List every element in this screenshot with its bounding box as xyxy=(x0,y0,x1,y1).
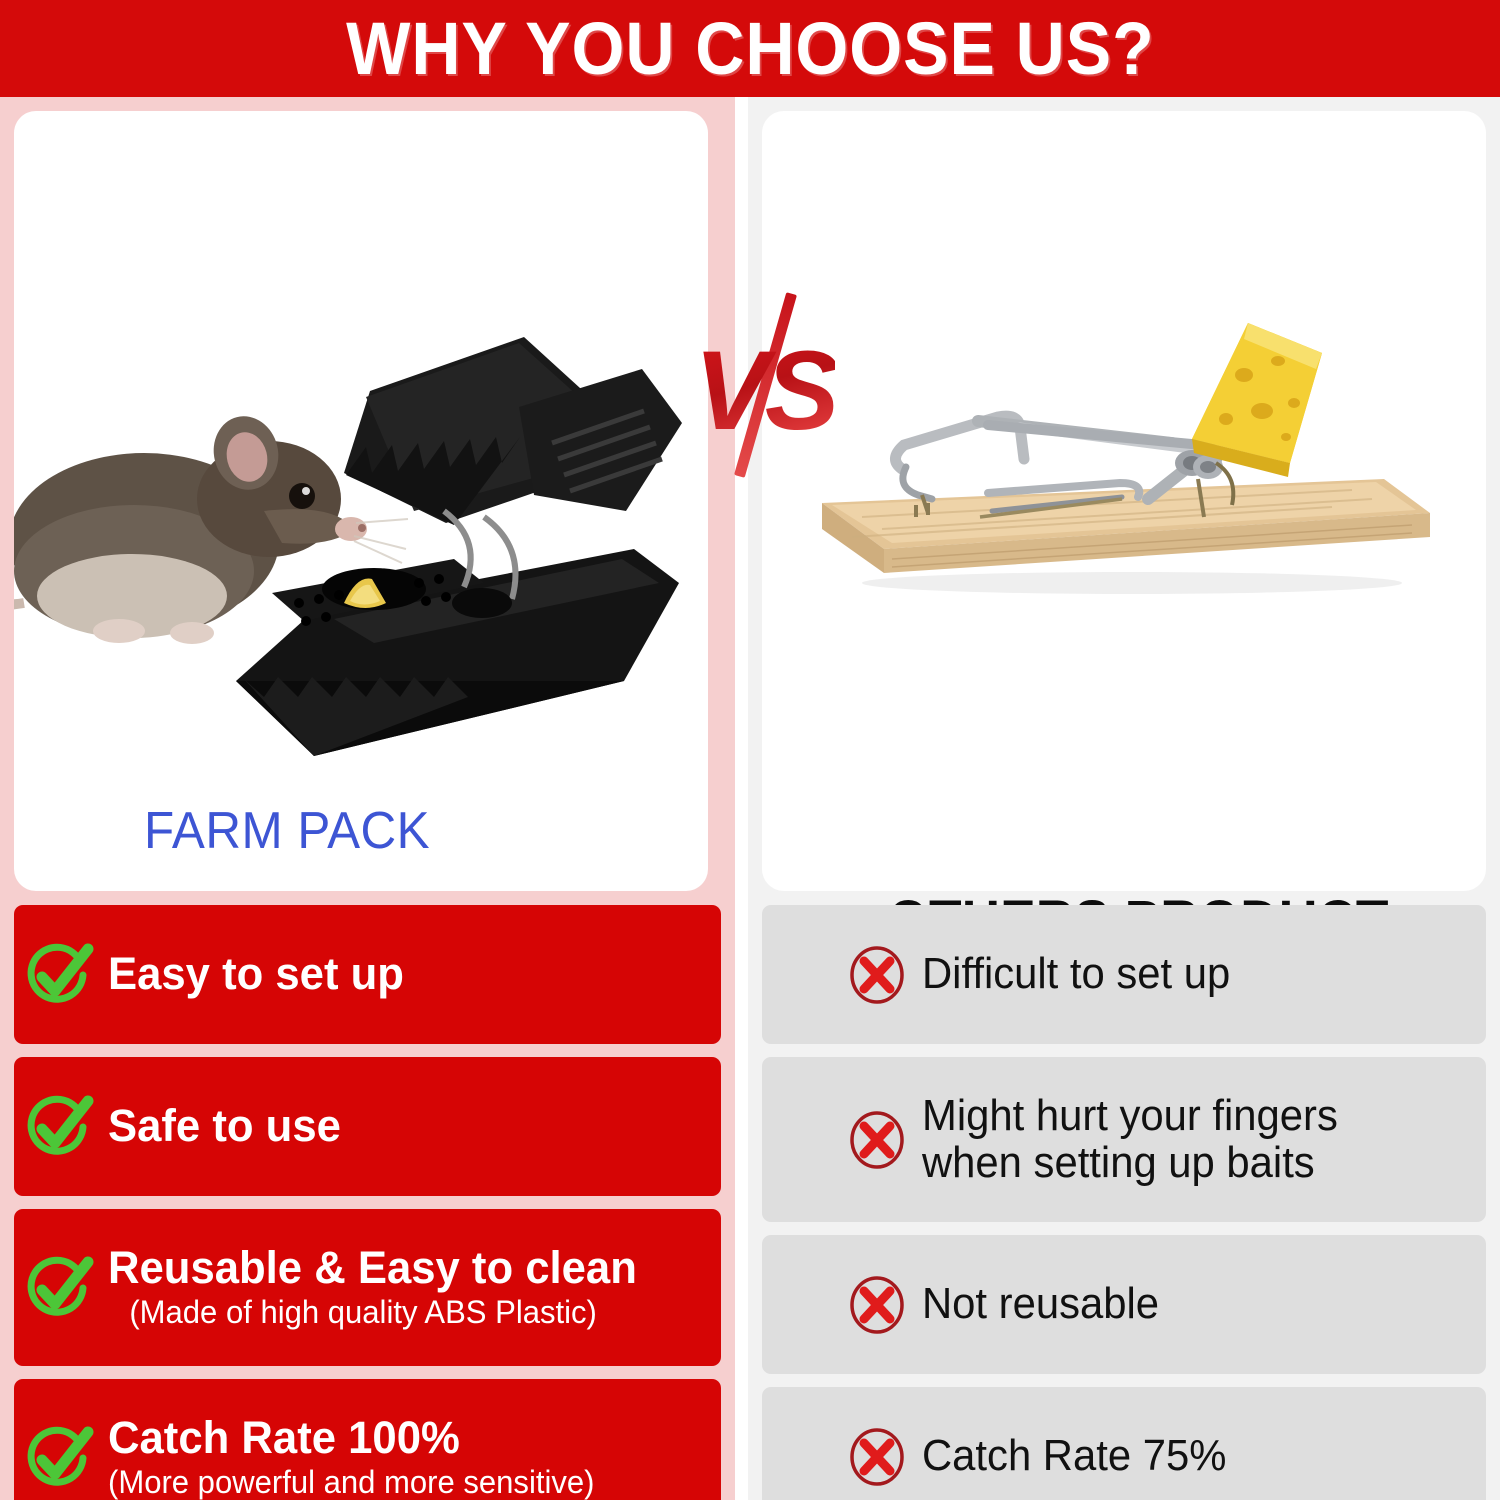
page-title: WHY YOU CHOOSE US? xyxy=(346,12,1154,86)
infographic-root: WHY YOU CHOOSE US? xyxy=(0,0,1500,1500)
brand-label: FARM PACK xyxy=(144,801,430,861)
con-text: Might hurt your fingers when setting up … xyxy=(922,1093,1338,1186)
con-row: Catch Rate 75% xyxy=(762,1387,1486,1500)
others-product-column: OTHERS PRODUCT Difficult to set up xyxy=(748,97,1500,1500)
our-product-image xyxy=(14,211,714,771)
con-text-line1: Catch Rate 75% xyxy=(922,1431,1226,1480)
others-product-card: OTHERS PRODUCT xyxy=(762,111,1486,891)
header-banner: WHY YOU CHOOSE US? xyxy=(0,0,1500,97)
con-text-line1: Difficult to set up xyxy=(922,949,1230,998)
con-text-line1: Might hurt your fingers xyxy=(922,1091,1338,1140)
x-circle-icon xyxy=(848,946,906,1004)
x-circle-icon xyxy=(848,1276,906,1334)
pro-text: Easy to set up xyxy=(108,950,404,999)
check-circle-icon xyxy=(22,939,94,1011)
con-row: Not reusable xyxy=(762,1235,1486,1374)
check-circle-icon xyxy=(22,1091,94,1163)
cons-list: Difficult to set up Might hurt your fing… xyxy=(748,905,1500,1500)
con-text: Catch Rate 75% xyxy=(922,1433,1226,1480)
our-product-column: FARM PACK OUR PRODUCT Easy to set up xyxy=(0,97,735,1500)
pro-subtext: (Made of high quality ABS Plastic) xyxy=(108,1294,637,1331)
pro-text: Catch Rate 100% xyxy=(108,1414,594,1463)
pros-list: Easy to set up Safe to use Reusabl xyxy=(0,905,735,1500)
x-circle-icon xyxy=(848,1111,906,1169)
pro-text: Reusable & Easy to clean xyxy=(108,1244,637,1293)
check-circle-icon xyxy=(22,1422,94,1494)
pro-text: Safe to use xyxy=(108,1102,341,1151)
others-product-image xyxy=(792,291,1452,621)
con-text: Difficult to set up xyxy=(922,951,1230,998)
pro-row: Catch Rate 100% (More powerful and more … xyxy=(14,1379,721,1500)
con-row: Might hurt your fingers when setting up … xyxy=(762,1057,1486,1222)
x-circle-icon xyxy=(848,1428,906,1486)
con-text-line1: Not reusable xyxy=(922,1279,1159,1328)
pro-row: Reusable & Easy to clean (Made of high q… xyxy=(14,1209,721,1366)
con-text-line2: when setting up baits xyxy=(922,1140,1338,1187)
our-product-card: FARM PACK OUR PRODUCT xyxy=(14,111,708,891)
check-circle-icon xyxy=(22,1252,94,1324)
con-row: Difficult to set up xyxy=(762,905,1486,1044)
pro-subtext: (More powerful and more sensitive) xyxy=(108,1464,594,1500)
pro-row: Easy to set up xyxy=(14,905,721,1044)
con-text: Not reusable xyxy=(922,1281,1159,1328)
pro-row: Safe to use xyxy=(14,1057,721,1196)
